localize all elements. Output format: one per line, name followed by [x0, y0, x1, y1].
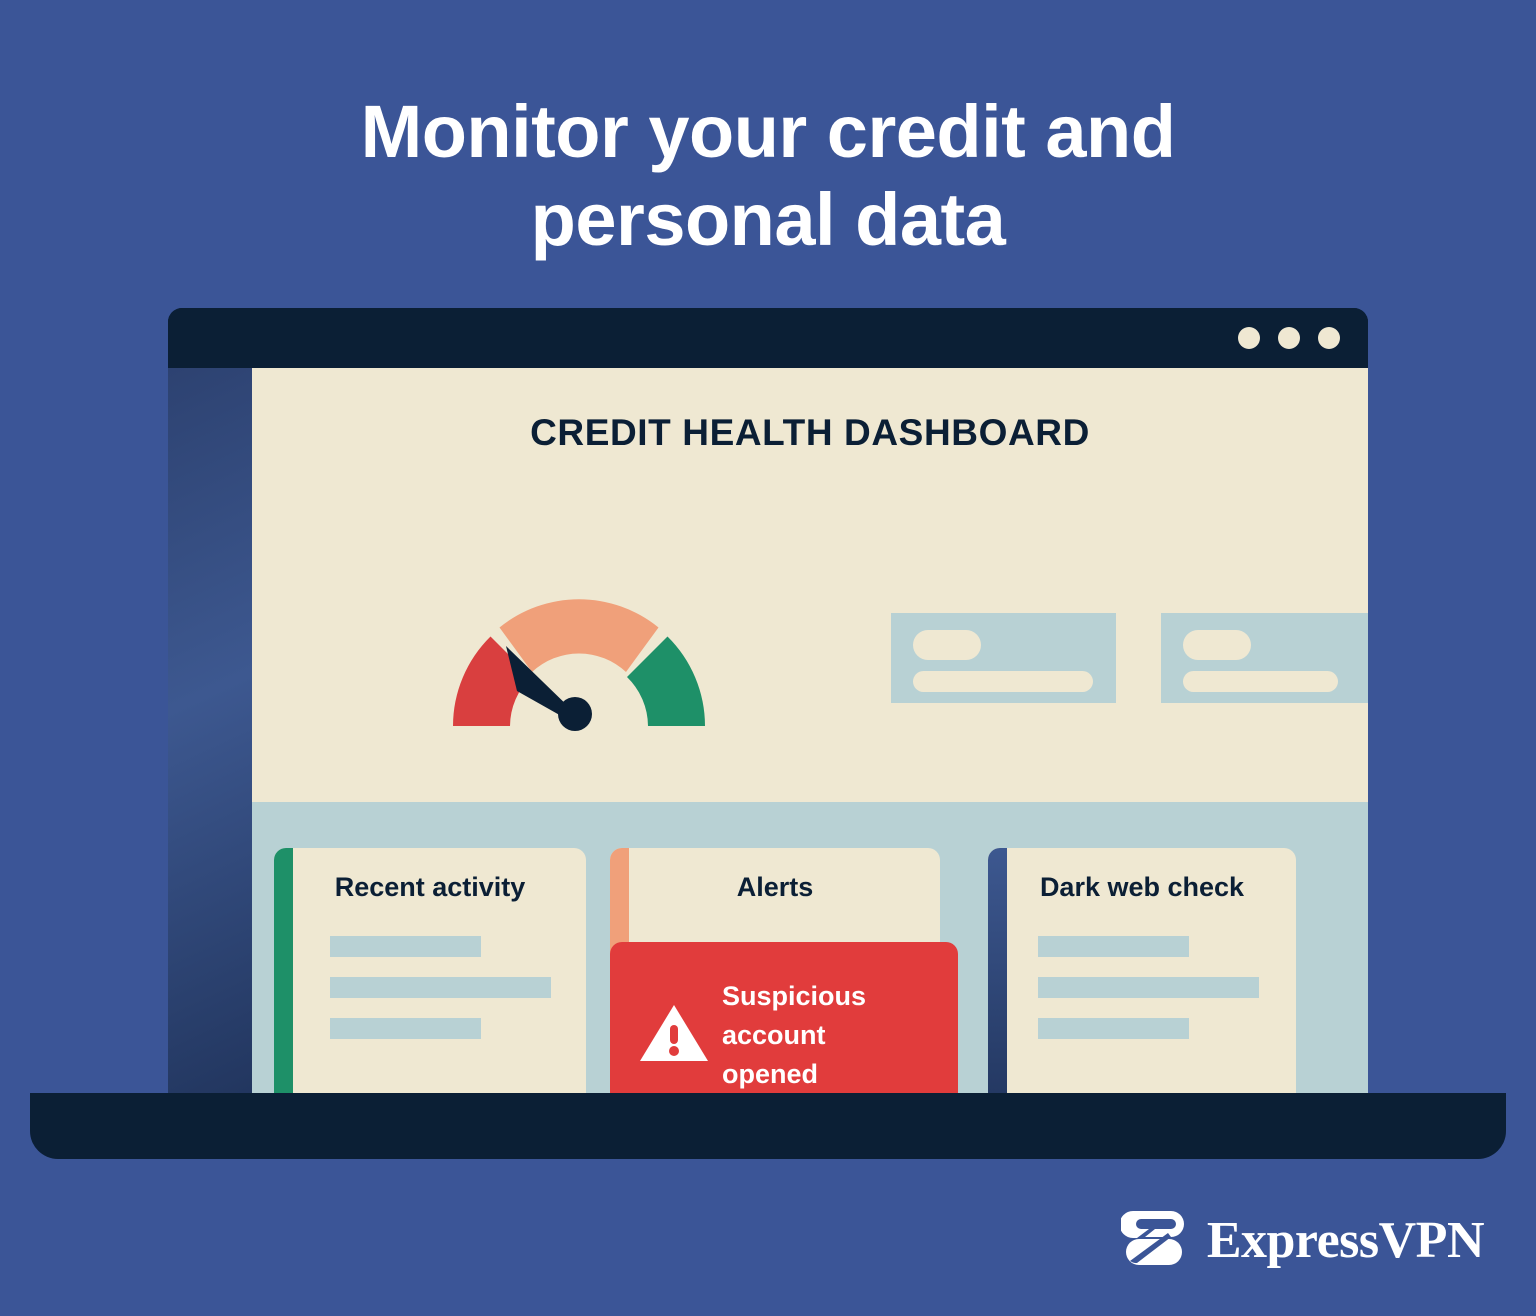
window-controls: [1238, 327, 1340, 349]
summary-panel-1[interactable]: [891, 613, 1116, 703]
card-recent-activity[interactable]: Recent activity: [274, 848, 586, 1093]
warning-triangle-icon: [638, 1001, 710, 1070]
alert-message: Suspicious account opened: [722, 977, 866, 1093]
dashboard-title: CREDIT HEALTH DASHBOARD: [252, 412, 1368, 454]
skeleton-line: [330, 936, 481, 957]
summary-panel-1-bar: [913, 671, 1093, 692]
brand-name: ExpressVPN: [1207, 1211, 1484, 1270]
summary-panel-2-bar: [1183, 671, 1338, 692]
summary-panel-1-pill: [913, 630, 981, 660]
credit-score-gauge: [448, 586, 710, 731]
dashboard-viewport: CREDIT HEALTH DASHBOARD: [252, 368, 1368, 1093]
laptop-base: [30, 1093, 1506, 1159]
card-alerts-title: Alerts: [610, 872, 940, 903]
summary-panel-2[interactable]: [1161, 613, 1368, 703]
laptop-screen: CREDIT HEALTH DASHBOARD: [168, 308, 1368, 1093]
card-dark-web-check[interactable]: Dark web check: [988, 848, 1296, 1093]
skeleton-line: [330, 1018, 481, 1039]
card-recent-activity-title: Recent activity: [274, 872, 586, 903]
skeleton-line: [1038, 977, 1259, 998]
window-dot-1-icon[interactable]: [1238, 327, 1260, 349]
window-dot-2-icon[interactable]: [1278, 327, 1300, 349]
brand-lockup: ExpressVPN: [1121, 1207, 1484, 1274]
skeleton-line: [330, 977, 551, 998]
dashboard-lower-section: Recent activity Alerts Dark web check: [252, 802, 1368, 1093]
window-dot-3-icon[interactable]: [1318, 327, 1340, 349]
skeleton-line: [1038, 1018, 1189, 1039]
browser-titlebar: [168, 308, 1368, 368]
gauge-svg: [448, 586, 710, 731]
skeleton-line: [1038, 936, 1189, 957]
summary-panel-2-pill: [1183, 630, 1251, 660]
screen-left-bezel: [168, 368, 252, 1093]
gauge-segment-fair: [500, 599, 659, 672]
suspicious-account-alert[interactable]: Suspicious account opened: [610, 942, 958, 1093]
card-dark-web-check-title: Dark web check: [988, 872, 1296, 903]
expressvpn-logo-icon: [1121, 1207, 1189, 1274]
laptop-illustration: CREDIT HEALTH DASHBOARD: [0, 0, 1536, 1316]
